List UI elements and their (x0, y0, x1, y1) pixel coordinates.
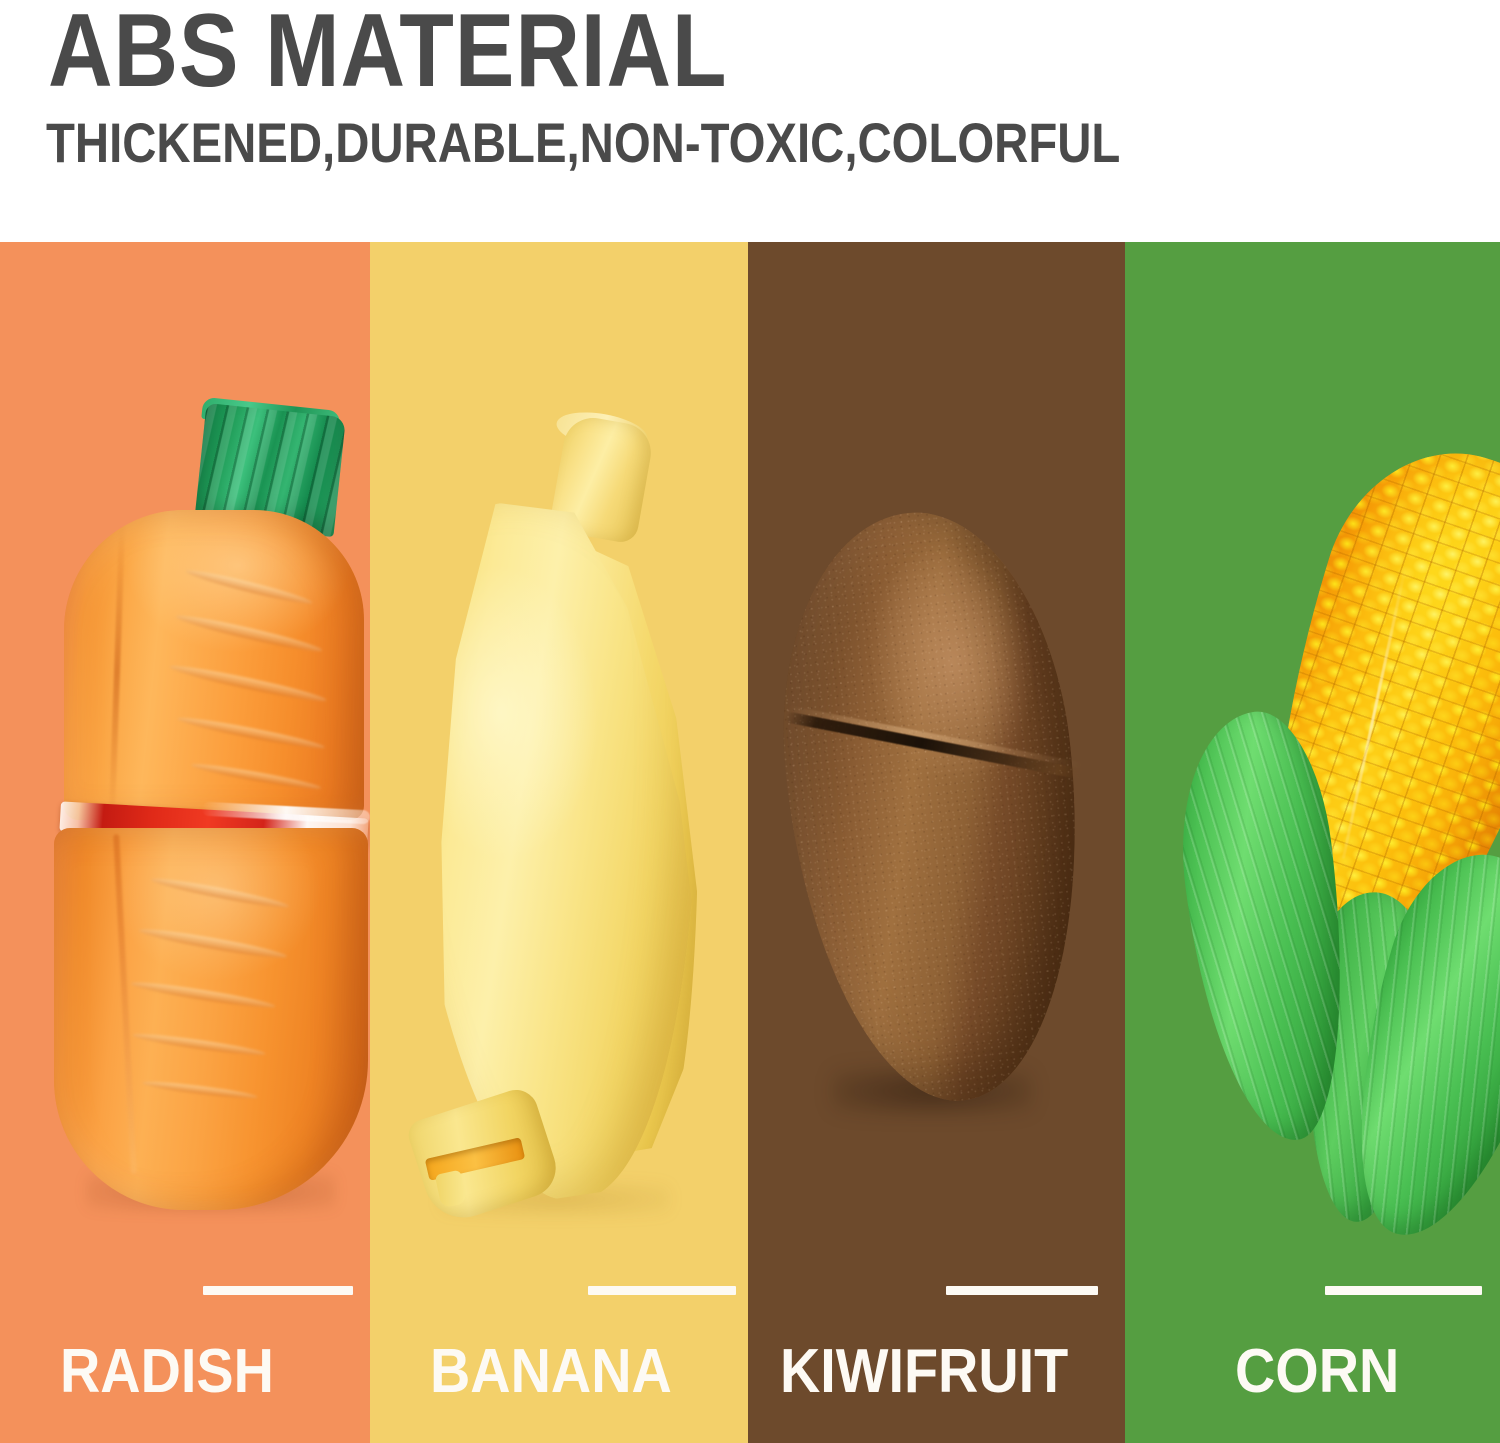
carrot-toy-illustration (52, 410, 370, 1210)
panel-label-banana: BANANA (430, 1339, 672, 1405)
page-title: ABS MATERIAL (48, 0, 727, 106)
product-panel-radish[interactable]: RADISH (0, 242, 370, 1443)
page-subtitle: THICKENED,DURABLE,NON-TOXIC,COLORFUL (46, 112, 1120, 174)
carrot-ridge-10 (142, 1079, 258, 1101)
banana-product-image (370, 242, 748, 1443)
product-panel-kiwifruit[interactable]: KIWIFRUIT (748, 242, 1125, 1443)
panel-label-radish: RADISH (60, 1339, 274, 1405)
corn-toy-illustration (1155, 422, 1500, 1252)
kiwifruit-product-image (748, 242, 1125, 1443)
radish-product-image (0, 242, 370, 1443)
product-panel-corn[interactable]: CORN (1125, 242, 1500, 1443)
product-panel-banana[interactable]: BANANA (370, 242, 748, 1443)
panel-rule-banana (588, 1286, 736, 1295)
panel-rule-radish (203, 1286, 353, 1295)
carrot-ridge-9 (132, 1031, 266, 1059)
kiwifruit-toy-illustration (776, 512, 1106, 1142)
carrot-ridge-1 (185, 566, 314, 607)
carrot-ridge-8 (130, 979, 276, 1012)
corn-product-image (1125, 242, 1500, 1443)
header-banner: ABS MATERIAL THICKENED,DURABLE,NON-TOXIC… (0, 0, 1500, 242)
panel-label-kiwifruit: KIWIFRUIT (780, 1339, 1068, 1405)
carrot-ridge-3 (169, 661, 328, 705)
panel-rule-corn (1325, 1286, 1482, 1295)
panel-rule-kiwifruit (946, 1286, 1098, 1295)
carrot-ridge-2 (175, 611, 324, 655)
product-infographic: ABS MATERIAL THICKENED,DURABLE,NON-TOXIC… (0, 0, 1500, 1443)
carrot-ridge-6 (150, 875, 289, 912)
kiwifruit-skin-texture (760, 499, 1106, 1116)
panel-label-corn: CORN (1235, 1339, 1399, 1405)
carrot-lower-half (54, 828, 368, 1210)
carrot-upper-half (64, 510, 364, 820)
product-panel-strip: RADISH BANANA (0, 242, 1500, 1443)
banana-toy-illustration (380, 412, 740, 1222)
carrot-ridge-5 (190, 761, 322, 793)
carrot-ridge-4 (176, 714, 325, 752)
carrot-ridge-7 (138, 925, 288, 962)
kiwifruit-body (760, 499, 1106, 1116)
banana-peel-body (388, 493, 724, 1208)
